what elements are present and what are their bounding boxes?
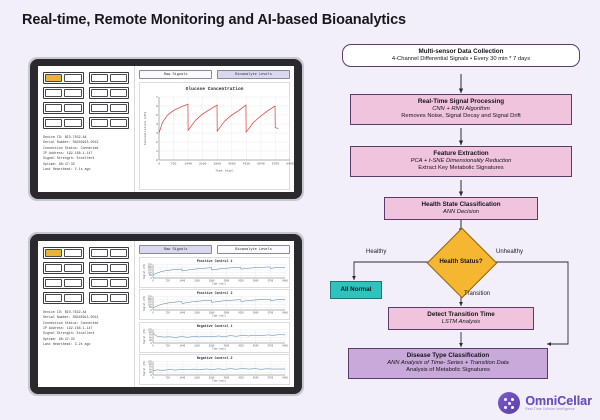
well-cell[interactable]	[64, 264, 81, 272]
well-cell[interactable]	[110, 89, 127, 97]
device-panel-bottom: Device ID: BIO-7832-A4 Serial Number: SN…	[38, 241, 135, 387]
svg-text:4320: 4320	[239, 344, 245, 347]
svg-text:720: 720	[166, 280, 171, 283]
svg-text:2160: 2160	[195, 377, 201, 380]
node-title: Health State Classification	[389, 201, 533, 209]
well-cell[interactable]	[45, 104, 62, 112]
svg-text:200: 200	[148, 298, 153, 301]
well-cell[interactable]	[91, 74, 108, 82]
well-pair[interactable]	[89, 292, 130, 304]
node-subtitle: 4-Channel Differential Signals • Every 3…	[347, 56, 575, 64]
svg-text:Time (min): Time (min)	[212, 315, 226, 318]
svg-text:60: 60	[149, 366, 152, 369]
well-pair[interactable]	[89, 247, 130, 259]
well-cell[interactable]	[45, 294, 62, 302]
tab-raw-signals[interactable]: Raw Signals	[139, 70, 212, 79]
well-cell[interactable]	[91, 264, 108, 272]
well-pair[interactable]	[89, 117, 130, 129]
tab-bioanalyte-levels[interactable]: Bioanalyte Levels	[217, 70, 290, 79]
svg-text:Time (min): Time (min)	[215, 168, 234, 172]
svg-text:4320: 4320	[239, 312, 245, 315]
well-cell[interactable]	[45, 264, 62, 272]
chart-title-glucose: Glucose Concentration	[143, 87, 286, 92]
svg-text:4320: 4320	[239, 377, 245, 380]
well-cell[interactable]	[91, 279, 108, 287]
svg-text:5760: 5760	[268, 377, 274, 380]
well-pair[interactable]	[43, 277, 84, 289]
glucose-plot: 0720144021602880360043205040576064800123…	[143, 94, 286, 177]
svg-text:1440: 1440	[180, 344, 186, 347]
well-cell[interactable]	[110, 249, 127, 257]
svg-text:720: 720	[166, 377, 171, 380]
svg-text:40: 40	[149, 369, 152, 372]
svg-text:6480: 6480	[283, 344, 289, 347]
svg-text:150: 150	[148, 301, 153, 304]
well-pair[interactable]	[89, 102, 130, 114]
svg-text:50: 50	[149, 274, 152, 277]
svg-text:6: 6	[156, 104, 158, 108]
svg-text:6480: 6480	[283, 312, 289, 315]
node-subtitle: CNN + RNN Algorithm	[355, 106, 567, 114]
svg-text:720: 720	[166, 344, 171, 347]
node-subtitle: ANN Decision	[389, 209, 533, 217]
well-cell[interactable]	[91, 294, 108, 302]
svg-text:4320: 4320	[243, 162, 251, 166]
well-pair[interactable]	[43, 247, 84, 259]
well-cell[interactable]	[45, 279, 62, 287]
node-title: Feature Extraction	[355, 150, 567, 158]
svg-text:5760: 5760	[268, 344, 274, 347]
svg-text:6480: 6480	[283, 280, 289, 283]
tablet-bezel-bottom: Device ID: BIO-7832-A4 Serial Number: SN…	[30, 234, 302, 394]
svg-text:6480: 6480	[287, 162, 294, 166]
svg-text:250: 250	[148, 263, 153, 266]
svg-text:50: 50	[149, 307, 152, 310]
svg-text:Signal (mV): Signal (mV)	[143, 296, 146, 311]
node-subtitle: ANN Analysis of Time- Series + Transitio…	[353, 360, 543, 368]
svg-text:1: 1	[156, 149, 158, 153]
svg-text:0: 0	[153, 344, 155, 347]
well-cell[interactable]	[64, 74, 81, 82]
well-pair[interactable]	[43, 87, 84, 99]
well-cell[interactable]	[91, 249, 108, 257]
decision-label: Health Status?	[406, 258, 516, 265]
svg-text:5040: 5040	[253, 312, 259, 315]
well-cell[interactable]	[64, 89, 81, 97]
tab-bar-top: Raw Signals Bioanalyte Levels	[139, 70, 290, 79]
node-title: Detect Transition Time	[393, 311, 529, 319]
tablet-screen-bottom: Device ID: BIO-7832-A4 Serial Number: SN…	[38, 241, 294, 387]
flow-node-health-state-classification[interactable]: Health State Classification ANN Decision	[384, 197, 538, 220]
svg-text:200: 200	[148, 266, 153, 269]
node-subtitle-2: Removes Noise, Signal Decay and Signal D…	[355, 113, 567, 121]
svg-text:1440: 1440	[180, 312, 186, 315]
well-cell[interactable]	[45, 89, 62, 97]
svg-text:3: 3	[156, 131, 158, 135]
well-plate-grid-bottom[interactable]	[43, 247, 129, 304]
well-cell[interactable]	[64, 294, 81, 302]
svg-text:250: 250	[148, 296, 153, 299]
flow-node-feature-extraction[interactable]: Feature Extraction PCA + t-SNE Dimension…	[350, 146, 572, 177]
svg-text:2160: 2160	[199, 162, 207, 166]
well-pair[interactable]	[89, 72, 130, 84]
signal-plot-svg: 0720144021602880360043205040576064800501…	[142, 263, 288, 285]
svg-text:20: 20	[149, 339, 152, 342]
svg-text:5040: 5040	[253, 344, 259, 347]
svg-text:Time (min): Time (min)	[212, 347, 226, 350]
svg-text:60: 60	[149, 333, 152, 336]
svg-text:80: 80	[149, 363, 152, 366]
svg-text:5: 5	[156, 113, 158, 117]
tab-raw-signals[interactable]: Raw Signals	[139, 245, 212, 254]
well-cell[interactable]	[110, 279, 127, 287]
svg-text:1440: 1440	[185, 162, 193, 166]
well-pair[interactable]	[89, 277, 130, 289]
data-panel-bottom: Raw Signals Bioanalyte Levels Positive C…	[135, 241, 294, 387]
svg-text:0: 0	[153, 312, 155, 315]
svg-text:5760: 5760	[268, 280, 274, 283]
flow-node-detect-transition-time[interactable]: Detect Transition Time LSTM Analysis	[388, 307, 534, 330]
svg-text:5040: 5040	[253, 377, 259, 380]
well-cell[interactable]	[110, 294, 127, 302]
svg-text:Signal (mV): Signal (mV)	[143, 328, 146, 343]
svg-text:2160: 2160	[195, 344, 201, 347]
svg-text:0: 0	[153, 280, 155, 283]
svg-text:2: 2	[156, 140, 158, 144]
signal-chart-positive-control-1: Positive Control 1 072014402160288036004…	[139, 257, 290, 288]
analysis-flowchart: Multi-sensor Data Collection 4-Channel D…	[330, 44, 592, 374]
flow-node-disease-type-classification[interactable]: Disease Type Classification ANN Analysis…	[348, 348, 548, 379]
page-title: Real-time, Remote Monitoring and AI-base…	[22, 12, 406, 28]
well-cell[interactable]	[91, 104, 108, 112]
well-cell[interactable]	[64, 279, 81, 287]
glucose-chart-card: Glucose Concentration 072014402160288036…	[139, 82, 290, 190]
well-plate-grid-top[interactable]	[43, 72, 129, 129]
svg-text:2880: 2880	[214, 162, 222, 166]
flow-node-signal-processing[interactable]: Real-Time Signal Processing CNN + RNN Al…	[350, 94, 572, 125]
svg-text:100: 100	[148, 328, 153, 331]
data-panel-top: Raw Signals Bioanalyte Levels Glucose Co…	[135, 66, 294, 192]
svg-text:5040: 5040	[253, 280, 259, 283]
well-pair[interactable]	[89, 87, 130, 99]
edge-label-unhealthy: Unhealthy	[496, 249, 523, 255]
svg-text:Time (min): Time (min)	[212, 380, 226, 383]
signal-plot-svg: 0720144021602880360043205040576064800204…	[142, 360, 288, 382]
well-pair[interactable]	[43, 117, 84, 129]
logo-name: OmniCellar	[525, 395, 592, 408]
svg-text:0: 0	[158, 162, 160, 166]
logo-tagline: Real-Time Cellular Intelligence	[525, 408, 592, 411]
signal-plot-svg: 0720144021602880360043205040576064800501…	[142, 295, 288, 317]
signal-chart-negative-control-1: Negative Control 1 072014402160288036004…	[139, 322, 290, 353]
svg-text:5760: 5760	[272, 162, 280, 166]
svg-text:150: 150	[148, 269, 153, 272]
node-title: Disease Type Classification	[353, 352, 543, 360]
node-subtitle-2: Extract Key Metabolic Signatures	[355, 165, 567, 173]
svg-text:4320: 4320	[239, 280, 245, 283]
device-info-bottom: Device ID: BIO-7832-A4 Serial Number: SN…	[43, 310, 129, 347]
node-subtitle: LSTM Analysis	[393, 319, 529, 327]
tablet-device-top: Device ID: BIO-7832-A4 Serial Number: SN…	[28, 57, 304, 201]
well-pair[interactable]	[43, 292, 84, 304]
well-pair[interactable]	[43, 72, 84, 84]
well-cell[interactable]	[45, 249, 62, 257]
svg-text:720: 720	[166, 312, 171, 315]
glucose-plot-svg: 0720144021602880360043205040576064800123…	[143, 94, 294, 172]
flow-node-data-collection[interactable]: Multi-sensor Data Collection 4-Channel D…	[342, 44, 580, 67]
well-pair[interactable]	[89, 262, 130, 274]
svg-text:720: 720	[171, 162, 177, 166]
well-cell[interactable]	[110, 119, 127, 127]
node-title: All Normal	[334, 286, 378, 294]
svg-text:100: 100	[148, 304, 153, 307]
signal-chart-list: Positive Control 1 072014402160288036004…	[139, 257, 290, 385]
well-cell[interactable]	[64, 119, 81, 127]
device-info-line: Last Heartbeat: 3.2s ago	[43, 342, 129, 347]
device-panel-top: Device ID: BIO-7832-A4 Serial Number: SN…	[38, 66, 135, 192]
flow-node-all-normal[interactable]: All Normal	[330, 281, 382, 299]
omnicellar-cell-icon	[498, 392, 520, 414]
svg-text:6480: 6480	[283, 377, 289, 380]
well-cell[interactable]	[110, 104, 127, 112]
svg-text:0: 0	[156, 158, 158, 162]
tablet-screen-top: Device ID: BIO-7832-A4 Serial Number: SN…	[38, 66, 294, 192]
svg-text:0: 0	[153, 377, 155, 380]
signal-plot-svg: 0720144021602880360043205040576064800204…	[142, 328, 288, 350]
svg-text:2160: 2160	[195, 312, 201, 315]
well-cell[interactable]	[91, 89, 108, 97]
well-cell[interactable]	[64, 104, 81, 112]
svg-text:Signal (mV): Signal (mV)	[143, 264, 146, 279]
svg-text:1440: 1440	[180, 377, 186, 380]
tab-bar-bottom: Raw Signals Bioanalyte Levels	[139, 245, 290, 254]
svg-text:100: 100	[148, 360, 153, 363]
well-cell[interactable]	[45, 119, 62, 127]
svg-text:2160: 2160	[195, 280, 201, 283]
well-cell[interactable]	[110, 264, 127, 272]
device-info-top: Device ID: BIO-7832-A4 Serial Number: SN…	[43, 135, 129, 172]
well-cell[interactable]	[91, 119, 108, 127]
well-pair[interactable]	[43, 262, 84, 274]
svg-text:5760: 5760	[268, 312, 274, 315]
svg-text:80: 80	[149, 331, 152, 334]
well-cell[interactable]	[64, 249, 81, 257]
svg-text:Concentration (mM): Concentration (mM)	[143, 112, 147, 146]
svg-text:Signal (mV): Signal (mV)	[143, 361, 146, 376]
svg-text:5040: 5040	[257, 162, 265, 166]
node-title: Real-Time Signal Processing	[355, 98, 567, 106]
well-cell[interactable]	[110, 74, 127, 82]
svg-text:7: 7	[156, 95, 158, 99]
svg-text:20: 20	[149, 371, 152, 374]
node-title: Multi-sensor Data Collection	[347, 48, 575, 56]
svg-text:40: 40	[149, 336, 152, 339]
logo-text-block: OmniCellar Real-Time Cellular Intelligen…	[525, 395, 592, 412]
signal-chart-negative-control-2: Negative Control 2 072014402160288036004…	[139, 354, 290, 385]
well-cell[interactable]	[45, 74, 62, 82]
edge-label-transition: Transition	[464, 291, 490, 297]
edge-label-healthy: Healthy	[366, 249, 386, 255]
node-subtitle: PCA + t-SNE Dimensionality Reduction	[355, 158, 567, 166]
signal-chart-positive-control-2: Positive Control 2 072014402160288036004…	[139, 289, 290, 320]
well-pair[interactable]	[43, 102, 84, 114]
svg-text:4: 4	[156, 122, 158, 126]
device-info-line: Last Heartbeat: 2.1s ago	[43, 167, 129, 172]
svg-text:100: 100	[148, 271, 153, 274]
svg-text:1440: 1440	[180, 280, 186, 283]
tab-bioanalyte-levels[interactable]: Bioanalyte Levels	[217, 245, 290, 254]
svg-text:3600: 3600	[228, 162, 236, 166]
brand-logo: OmniCellar Real-Time Cellular Intelligen…	[498, 392, 592, 414]
svg-text:Time (min): Time (min)	[212, 282, 226, 285]
tablet-bezel-top: Device ID: BIO-7832-A4 Serial Number: SN…	[30, 59, 302, 199]
tablet-device-bottom: Device ID: BIO-7832-A4 Serial Number: SN…	[28, 232, 304, 396]
node-subtitle-2: Analysis of Metabolic Signatures	[353, 367, 543, 375]
